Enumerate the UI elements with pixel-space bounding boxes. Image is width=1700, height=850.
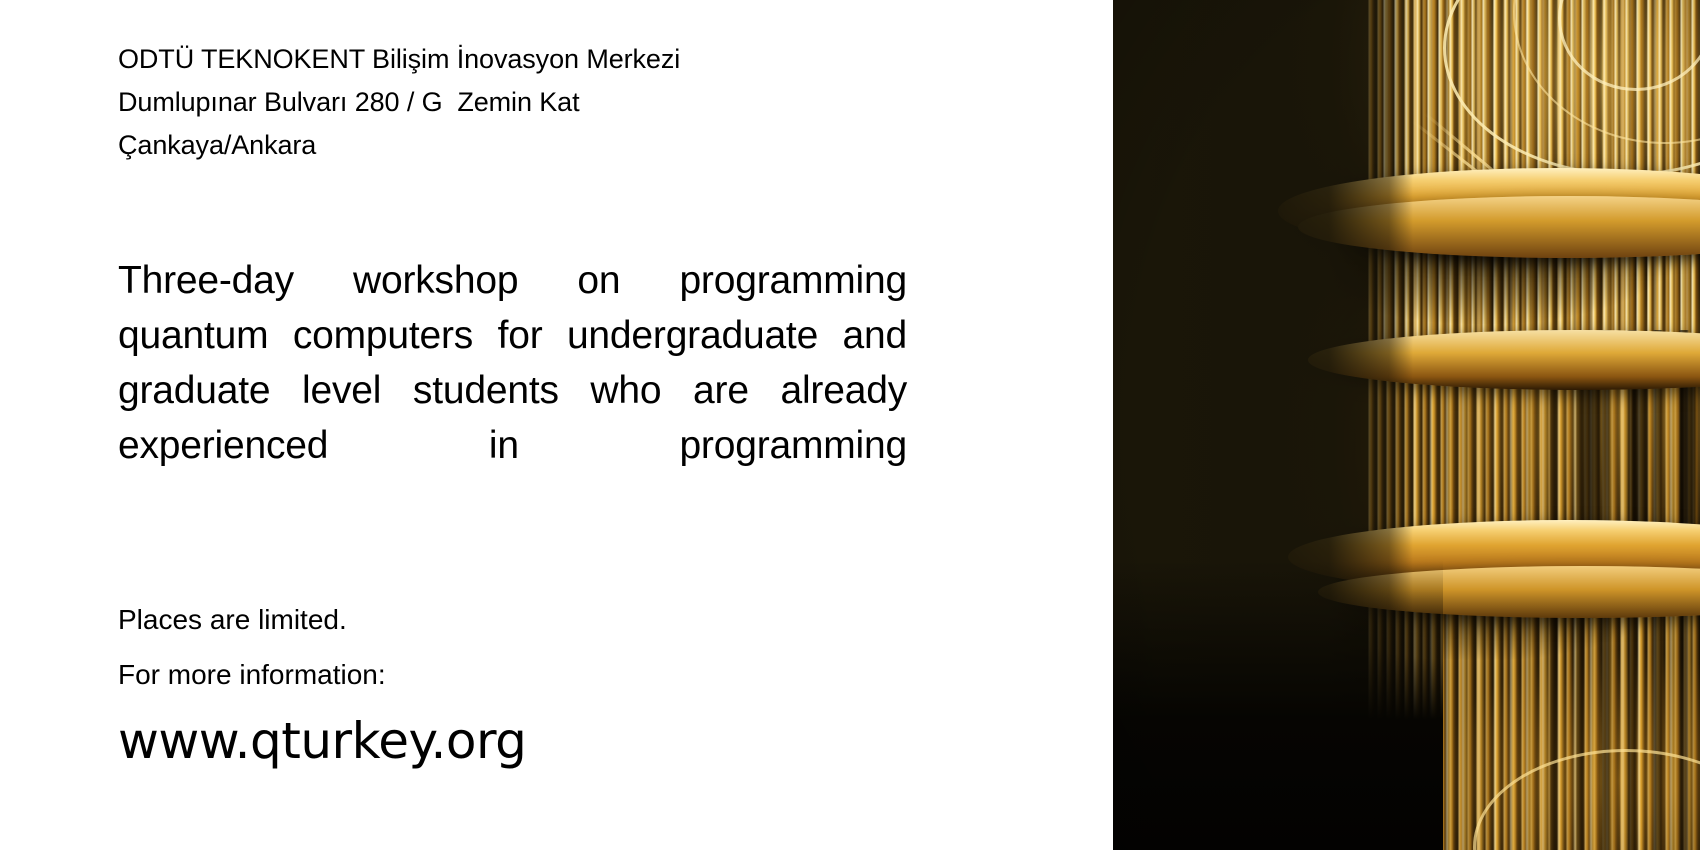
photo-dark-bottom-left: [1113, 560, 1443, 850]
address-line-1: ODTÜ TEKNOKENT Bilişim İnovasyon Merkezi: [118, 38, 908, 81]
address-block: ODTÜ TEKNOKENT Bilişim İnovasyon Merkezi…: [118, 38, 908, 167]
address-line-3: Çankaya/Ankara: [118, 124, 908, 167]
headline-paragraph: Three-day workshop on programming quantu…: [118, 253, 907, 528]
quantum-computer-image-panel: [1113, 0, 1700, 850]
website-url[interactable]: www.qturkey.org: [118, 708, 908, 774]
address-line-2: Dumlupınar Bulvarı 280 / G Zemin Kat: [118, 81, 908, 124]
text-column: ODTÜ TEKNOKENT Bilişim İnovasyon Merkezi…: [118, 0, 908, 850]
footer-block: Places are limited. For more information…: [118, 592, 908, 774]
slide-root: ODTÜ TEKNOKENT Bilişim İnovasyon Merkezi…: [0, 0, 1700, 850]
more-information-line: For more information:: [118, 647, 908, 702]
headline-text: Three-day workshop on programming quantu…: [118, 259, 907, 467]
places-limited-line: Places are limited.: [118, 592, 908, 647]
photo-background: [1113, 0, 1700, 850]
